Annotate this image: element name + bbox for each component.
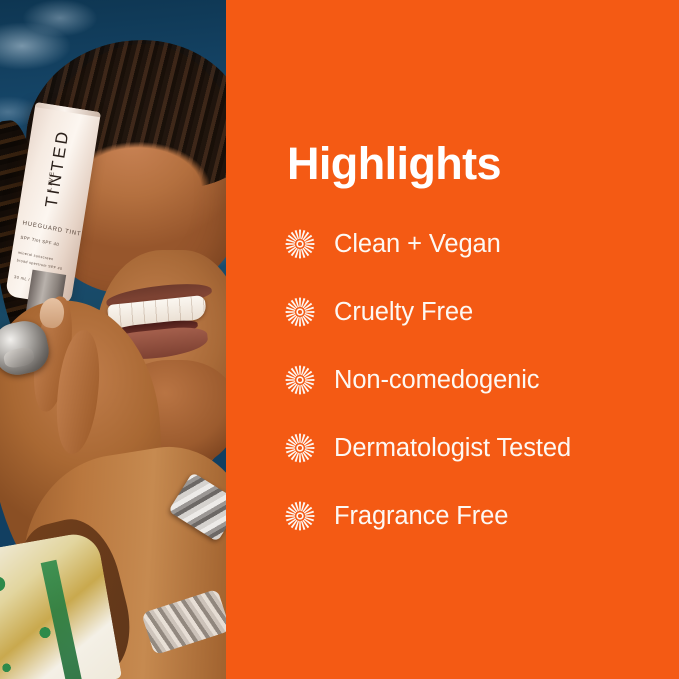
list-item: Clean + Vegan	[285, 224, 665, 264]
highlights-list: Clean + Vegan Cruelty Free Non-comedogen…	[285, 224, 665, 564]
tube-spf-line: SPF Tint SPF 40	[20, 235, 60, 247]
sunburst-icon	[285, 229, 315, 259]
page-title: Highlights	[287, 141, 501, 186]
list-item: Dermatologist Tested	[285, 428, 665, 468]
list-item: Non-comedogenic	[285, 360, 665, 400]
sunburst-icon	[285, 501, 315, 531]
tube-descriptor-line-2: broad spectrum SPF 40	[16, 258, 62, 271]
sunburst-icon	[285, 365, 315, 395]
sunburst-icon	[285, 433, 315, 463]
list-item-label: Clean + Vegan	[334, 230, 501, 258]
tube-brand-name: TINTED	[38, 107, 77, 229]
product-highlights-creative: TINTED LIVE HUEGUARD TINT SPF Tint SPF 4…	[0, 0, 679, 679]
list-item: Fragrance Free	[285, 496, 665, 536]
lifestyle-product-photo: TINTED LIVE HUEGUARD TINT SPF Tint SPF 4…	[0, 0, 226, 679]
sunburst-icon	[285, 297, 315, 327]
list-item-label: Dermatologist Tested	[334, 434, 571, 462]
list-item-label: Non-comedogenic	[334, 366, 539, 394]
list-item: Cruelty Free	[285, 292, 665, 332]
highlights-panel: Highlights Clean + Vegan Cruelty Free No…	[226, 0, 679, 679]
list-item-label: Fragrance Free	[334, 502, 508, 530]
list-item-label: Cruelty Free	[334, 298, 473, 326]
